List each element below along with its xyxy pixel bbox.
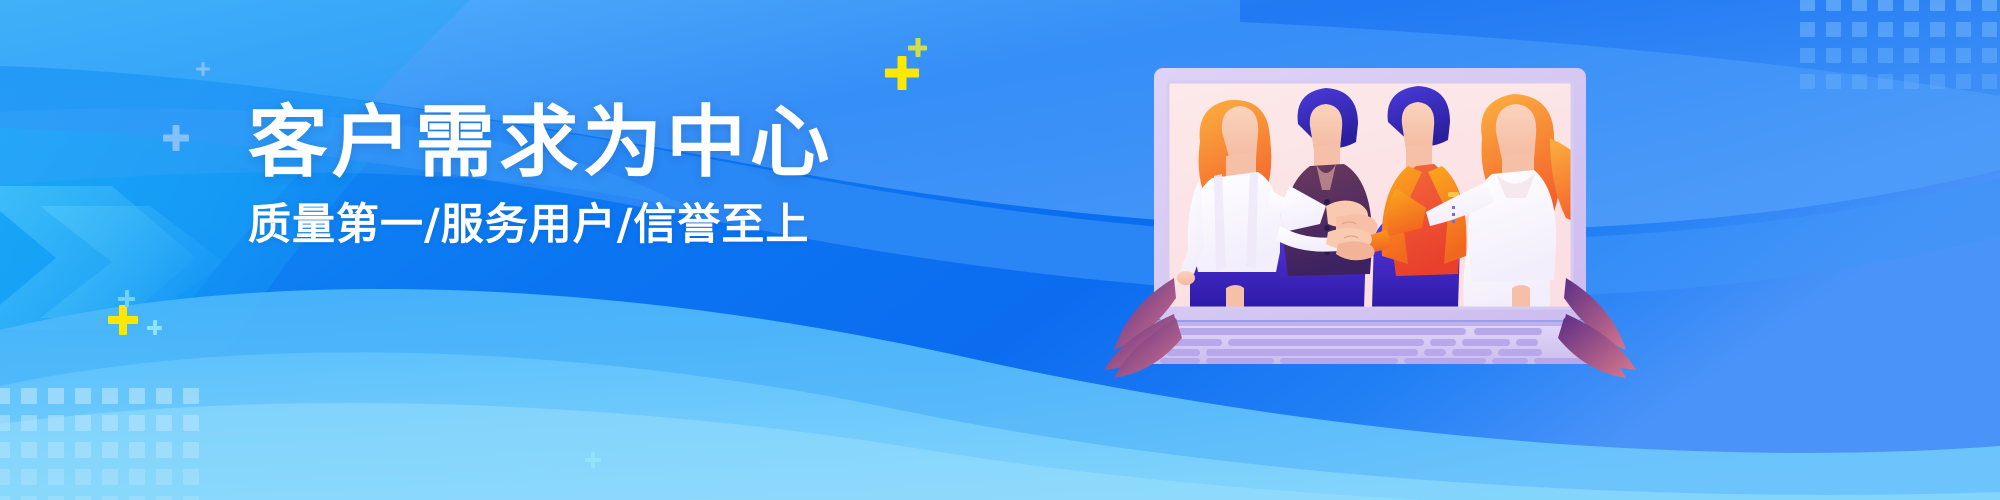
plus-cyan-mid-icon [585, 452, 601, 468]
page-subtitle: 质量第一/服务用户/信誉至上 [248, 204, 868, 247]
plus-yellow-bottom-icon [108, 305, 138, 335]
plus-cyan-bottom-icon [147, 320, 162, 335]
plus-white-b-icon [163, 125, 189, 151]
hero-banner: 客户需求为中心 质量第一/服务用户/信誉至上 [0, 0, 2000, 500]
plus-cyan-upper-icon [118, 290, 135, 307]
laptop-team-illustration [1130, 46, 1610, 366]
plus-decor-layer [0, 0, 2000, 500]
page-title: 客户需求为中心 [248, 104, 880, 182]
team-handstack-group [1177, 86, 1608, 308]
headline-block: 客户需求为中心 质量第一/服务用户/信誉至上 [248, 104, 868, 247]
plus-yellow-small-icon [908, 38, 927, 57]
plus-yellow-large-icon [885, 56, 919, 90]
plus-white-a-icon [196, 62, 210, 76]
